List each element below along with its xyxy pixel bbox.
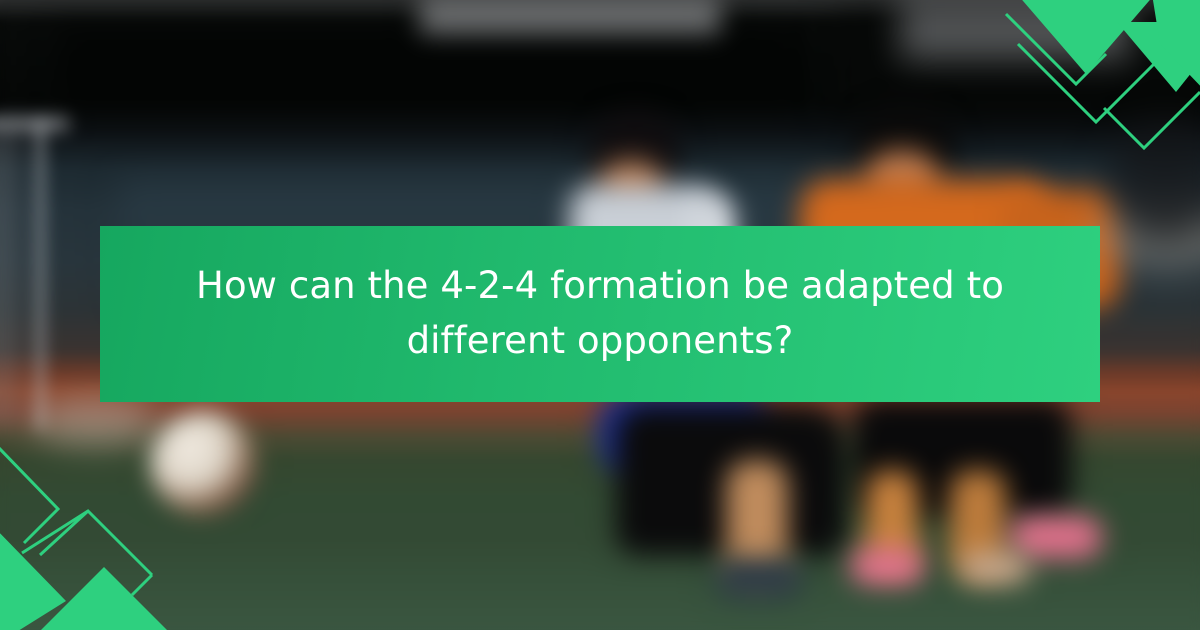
photo-shadow-right bbox=[1110, 120, 1200, 240]
stadium-roof-light-right bbox=[900, 0, 1130, 60]
player-front-shoe-back bbox=[960, 552, 1030, 584]
question-card: How can the 4-2-4 formation be adapted t… bbox=[0, 0, 1200, 630]
photo-highlight-left bbox=[30, 396, 160, 446]
player-crouching-shoe bbox=[716, 558, 802, 598]
goal-frame-side bbox=[0, 128, 28, 428]
player-front-shoe-right bbox=[1010, 516, 1102, 558]
soccer-ball bbox=[150, 412, 258, 516]
goal-post bbox=[34, 120, 47, 430]
stadium-roof-light-left bbox=[420, 0, 720, 34]
stadium-stand-shadow-left bbox=[60, 28, 800, 108]
title-banner: How can the 4-2-4 formation be adapted t… bbox=[100, 226, 1100, 402]
page-title: How can the 4-2-4 formation be adapted t… bbox=[154, 259, 1046, 369]
player-front-shoe-left bbox=[850, 548, 924, 584]
